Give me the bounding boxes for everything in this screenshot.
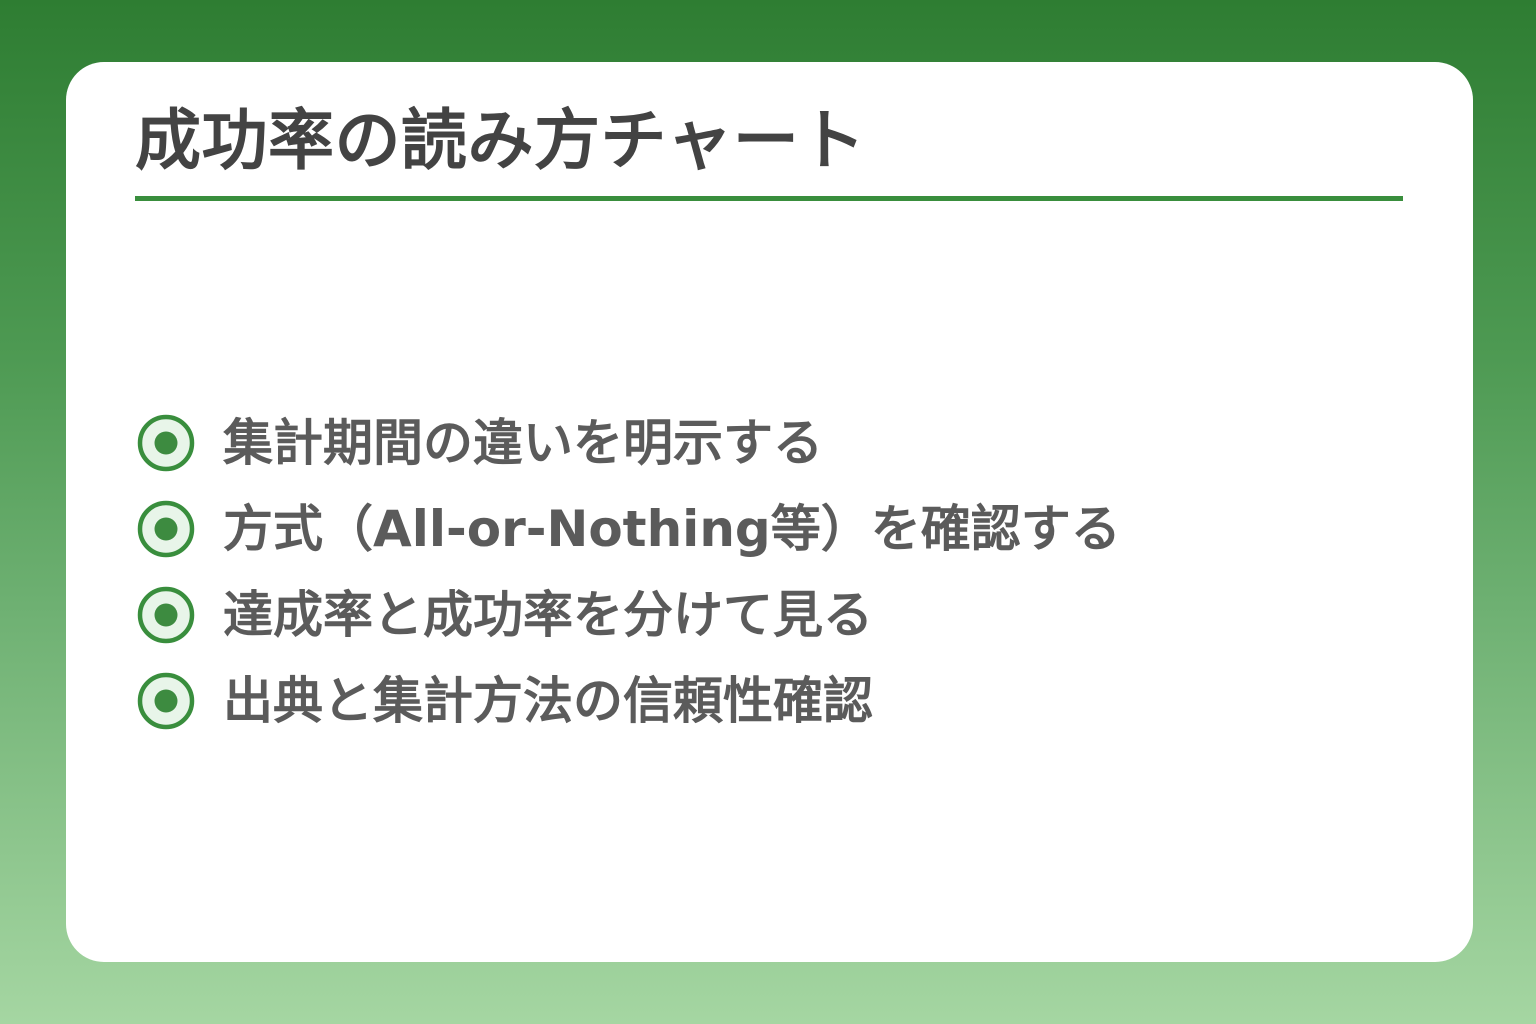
page-title: 成功率の読み方チャート <box>135 104 1403 178</box>
content-card: 成功率の読み方チャート 集計期間の違いを明示する <box>66 62 1473 962</box>
bullet-dot-icon <box>137 672 195 730</box>
slide-canvas: 成功率の読み方チャート 集計期間の違いを明示する <box>0 0 1536 1024</box>
list-item: 集計期間の違いを明示する <box>135 400 1415 486</box>
bullet-list: 集計期間の違いを明示する 方式（All-or-Nothing等）を確認する <box>135 400 1415 744</box>
list-item-label: 達成率と成功率を分けて見る <box>223 588 873 643</box>
bullet-dot-icon <box>137 414 195 472</box>
bullet-dot-icon <box>137 500 195 558</box>
title-underline-divider <box>135 196 1403 201</box>
bullet-dot-icon <box>137 586 195 644</box>
list-item-label: 方式（All-or-Nothing等）を確認する <box>223 502 1121 557</box>
list-item: 達成率と成功率を分けて見る <box>135 572 1415 658</box>
list-item: 出典と集計方法の信頼性確認 <box>135 658 1415 744</box>
list-item-label: 出典と集計方法の信頼性確認 <box>223 674 873 729</box>
title-block: 成功率の読み方チャート <box>135 104 1403 201</box>
list-item: 方式（All-or-Nothing等）を確認する <box>135 486 1415 572</box>
list-item-label: 集計期間の違いを明示する <box>223 416 823 471</box>
